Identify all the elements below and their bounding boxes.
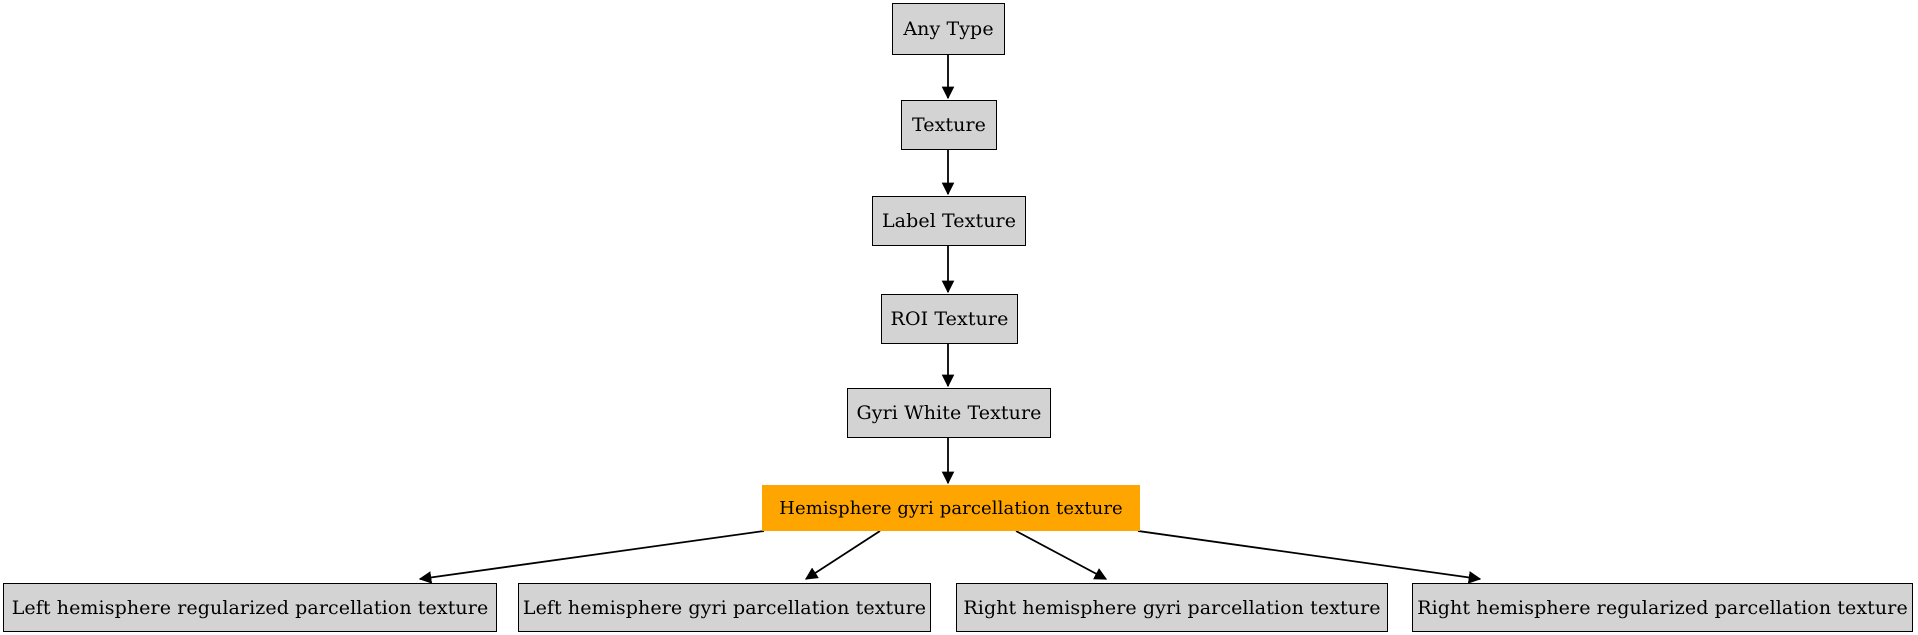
node-label: Hemisphere gyri parcellation texture (779, 498, 1123, 519)
diagram-canvas: Any TypeTextureLabel TextureROI TextureG… (0, 0, 1918, 635)
node-label: Texture (912, 114, 986, 136)
node-label: Gyri White Texture (856, 402, 1041, 424)
node-label: Right hemisphere gyri parcellation textu… (963, 597, 1380, 619)
node-any-type[interactable]: Any Type (892, 3, 1005, 55)
node-texture[interactable]: Texture (901, 100, 997, 150)
edge-hemi-gyri-parc-to-rh-gyri (1016, 531, 1106, 579)
node-label: Right hemisphere regularized parcellatio… (1417, 597, 1908, 619)
node-label-texture[interactable]: Label Texture (872, 196, 1026, 246)
edge-hemi-gyri-parc-to-lh-regularized (420, 531, 764, 579)
node-label: Label Texture (882, 210, 1016, 232)
node-rh-regularized[interactable]: Right hemisphere regularized parcellatio… (1412, 583, 1913, 632)
node-label: Left hemisphere regularized parcellation… (12, 597, 489, 619)
node-label: ROI Texture (891, 308, 1009, 330)
node-label: Left hemisphere gyri parcellation textur… (523, 597, 926, 619)
node-label: Any Type (903, 18, 993, 40)
node-gyri-white[interactable]: Gyri White Texture (847, 388, 1051, 438)
node-hemi-gyri-parc[interactable]: Hemisphere gyri parcellation texture (762, 485, 1140, 531)
edge-hemi-gyri-parc-to-lh-gyri (806, 531, 880, 579)
node-rh-gyri[interactable]: Right hemisphere gyri parcellation textu… (956, 583, 1388, 632)
node-lh-gyri[interactable]: Left hemisphere gyri parcellation textur… (518, 583, 931, 632)
edge-hemi-gyri-parc-to-rh-regularized (1138, 531, 1480, 579)
node-lh-regularized[interactable]: Left hemisphere regularized parcellation… (3, 583, 497, 632)
node-roi-texture[interactable]: ROI Texture (881, 294, 1018, 344)
